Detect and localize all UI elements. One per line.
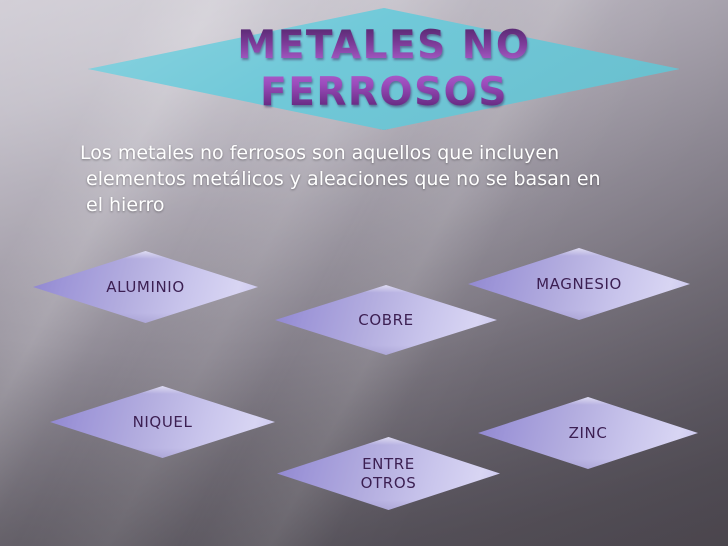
diamond-niquel-label: NIQUEL [133,413,193,432]
diamond-magnesio-label: MAGNESIO [536,275,622,294]
title-diamond-shape: METALES NO FERROSOS [88,8,680,130]
title-line-2: FERROSOS [260,70,508,115]
body-line-3: el hierro [80,192,670,218]
diamond-entre-otros-label: ENTRE OTROS [361,455,417,493]
diamond-cobre-label: COBRE [358,311,413,330]
title-line-1: METALES NO [237,23,530,68]
diamond-zinc[interactable]: ZINC [478,397,698,469]
diamond-niquel[interactable]: NIQUEL [50,386,275,458]
body-paragraph: Los metales no ferrosos son aquellos que… [80,140,670,218]
diamond-aluminio[interactable]: ALUMINIO [33,251,258,323]
diamond-zinc-label: ZINC [569,424,608,443]
diamond-aluminio-label: ALUMINIO [106,278,184,297]
body-line-2: elementos metálicos y aleaciones que no … [80,166,670,192]
diamond-cobre[interactable]: COBRE [275,285,497,355]
body-line-1: Los metales no ferrosos son aquellos que… [80,140,670,166]
diamond-entre-otros[interactable]: ENTRE OTROS [277,437,500,510]
diamond-magnesio[interactable]: MAGNESIO [468,248,690,320]
slide-title: METALES NO FERROSOS [88,22,680,116]
presentation-slide: METALES NO FERROSOS Los metales no ferro… [0,0,728,546]
